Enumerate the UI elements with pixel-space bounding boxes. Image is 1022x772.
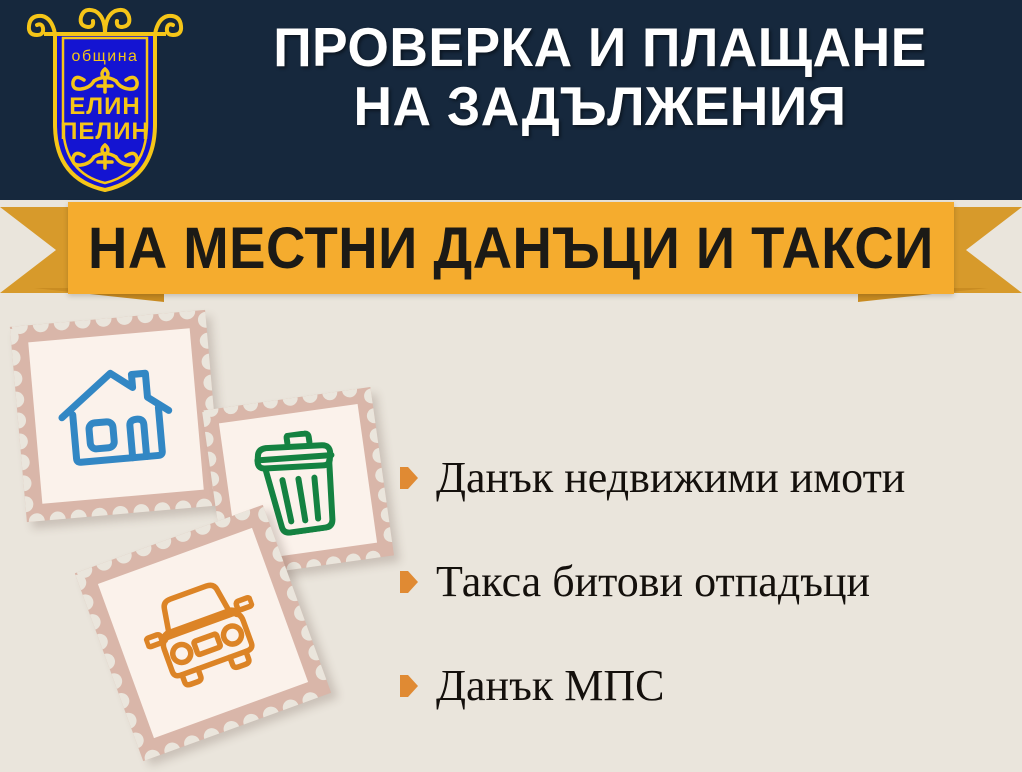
ribbon-label: НА МЕСТНИ ДАНЪЦИ И ТАКСИ: [88, 215, 934, 282]
car-icon: [131, 566, 274, 700]
crest-name-line2: ПЕЛИН: [60, 118, 150, 145]
municipality-coat-of-arms: община ЕЛИН ПЕЛИН: [22, 4, 188, 194]
arrow-bullet-icon: [400, 571, 418, 593]
arrow-bullet-icon: [400, 467, 418, 489]
list-item-label: Данък МПС: [436, 664, 664, 708]
poster-canvas: община ЕЛИН ПЕЛИН ПРОВЕРКА И ПЛАЩАНЕ НА …: [0, 0, 1022, 772]
list-item[interactable]: Данък МПС: [400, 634, 1015, 738]
stamp-inner-vehicle: [98, 528, 308, 738]
stamp-card-property: [10, 310, 222, 522]
list-item[interactable]: Такса битови отпадъци: [400, 530, 1015, 634]
page-title-line-1: ПРОВЕРКА И ПЛАЩАНЕ: [202, 18, 997, 77]
house-icon: [53, 358, 180, 474]
stamp-inner-property: [28, 328, 204, 504]
page-title-line-2: НА ЗАДЪЛЖЕНИЯ: [202, 77, 997, 136]
header-band: община ЕЛИН ПЕЛИН ПРОВЕРКА И ПЛАЩАНЕ НА …: [0, 0, 1022, 200]
ribbon-banner: НА МЕСТНИ ДАНЪЦИ И ТАКСИ: [68, 202, 954, 294]
subtitle-ribbon: НА МЕСТНИ ДАНЪЦИ И ТАКСИ: [0, 196, 1022, 308]
list-item[interactable]: Данък недвижими имоти: [400, 426, 1015, 530]
tax-type-list: Данък недвижими имоти Такса битови отпад…: [400, 426, 1015, 738]
arrow-bullet-icon: [400, 675, 418, 697]
list-item-label: Данък недвижими имоти: [436, 456, 905, 500]
crest-top-label: община: [72, 48, 139, 65]
list-item-label: Такса битови отпадъци: [436, 560, 870, 604]
crest-name-line1: ЕЛИН: [69, 93, 140, 120]
page-title: ПРОВЕРКА И ПЛАЩАНЕ НА ЗАДЪЛЖЕНИЯ: [202, 18, 997, 136]
